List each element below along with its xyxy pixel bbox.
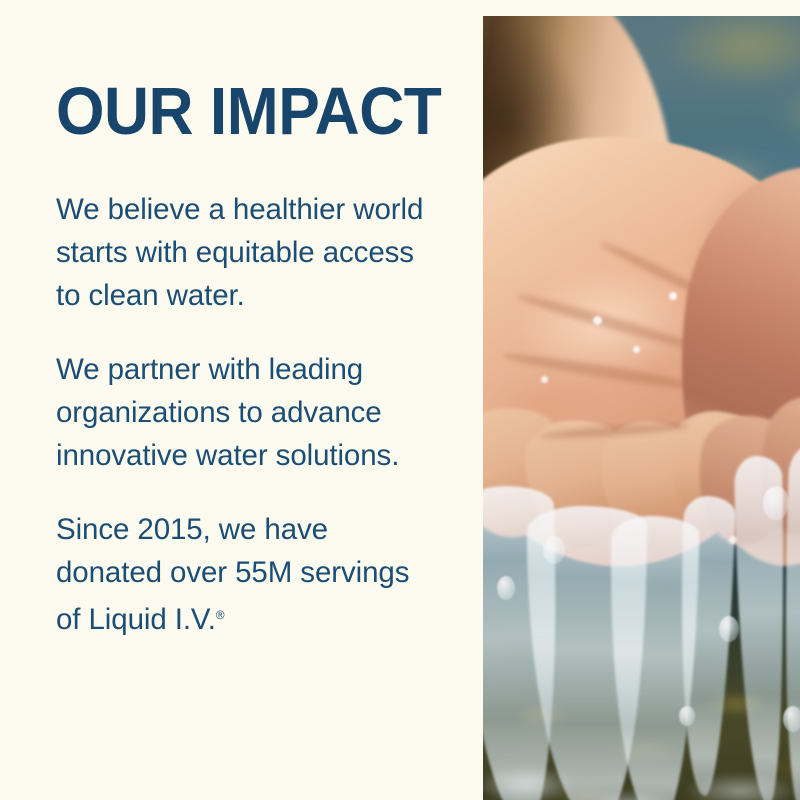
water-sparkle (669, 292, 677, 300)
water-droplet (763, 486, 789, 520)
paragraph-donations: Since 2015, we have donated over 55M ser… (56, 508, 426, 641)
water-sparkle (729, 536, 737, 544)
hands-water-photo (483, 16, 800, 800)
body-copy: We believe a healthier world starts with… (56, 188, 426, 641)
water-droplet (497, 576, 515, 600)
water-droplet (719, 616, 739, 642)
water-sparkle (593, 316, 602, 325)
registered-trademark-icon: ® (216, 608, 225, 622)
water-splash (483, 680, 800, 800)
water-sparkle (633, 346, 640, 353)
water-sparkle (541, 376, 548, 383)
paragraph-partnerships: We partner with leading organizations to… (56, 348, 426, 477)
paragraph-mission: We believe a healthier world starts with… (56, 188, 426, 317)
paragraph-donations-text: Since 2015, we have donated over 55M ser… (56, 513, 409, 636)
text-panel: OUR IMPACT We believe a healthier world … (0, 0, 443, 800)
impact-graphic: OUR IMPACT We believe a healthier world … (0, 0, 800, 800)
page-title: OUR IMPACT (56, 78, 441, 145)
water-droplet (543, 536, 565, 564)
